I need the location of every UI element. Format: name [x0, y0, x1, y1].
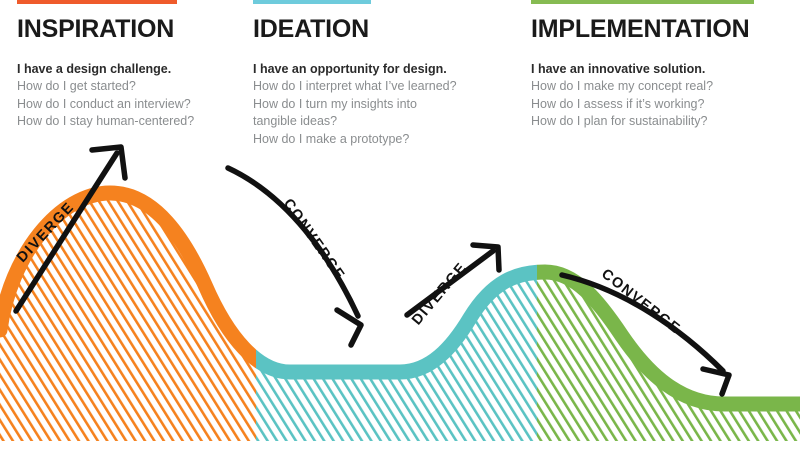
diverge-converge-wave-diagram	[0, 0, 800, 449]
wave-hatch-fill	[0, 0, 800, 449]
design-thinking-infographic: INSPIRATION I have a design challenge. H…	[0, 0, 800, 449]
arrow-converge-1	[228, 168, 361, 345]
